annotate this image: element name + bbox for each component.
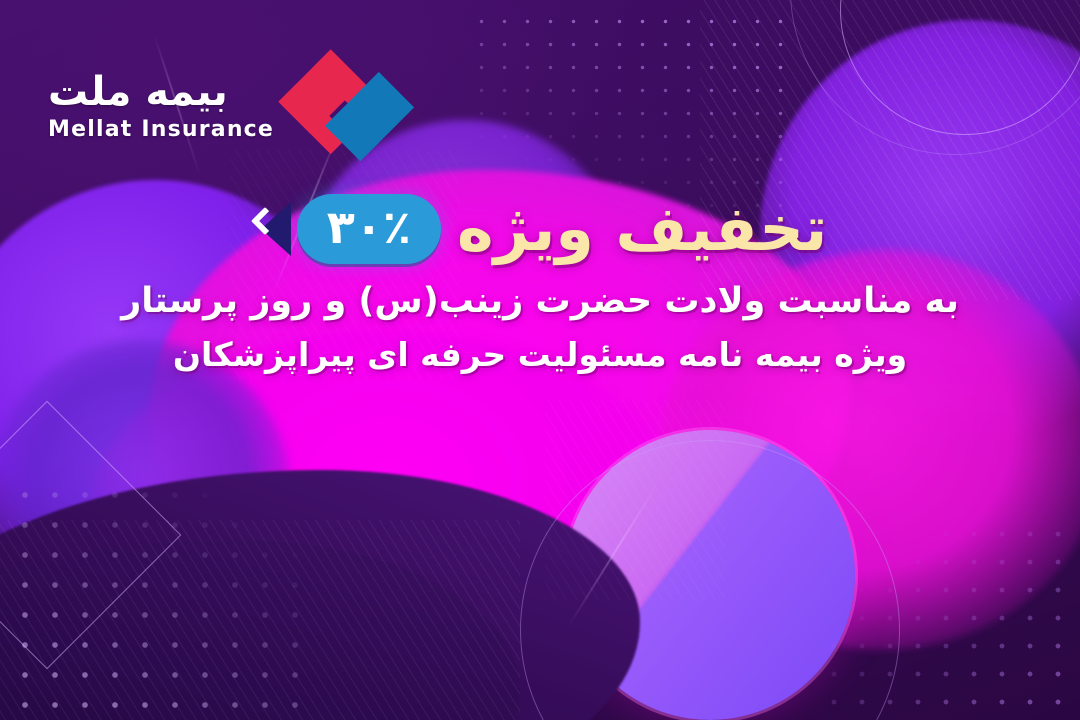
headline-text: تخفیف ویژه [457,192,827,265]
promo-banner: بیمه ملت Mellat Insurance تخفیف ویژه ۳۰٪… [0,0,1080,720]
brand-name-fa: بیمه ملت [48,72,228,112]
dot-pattern-bottom-right [820,520,1080,720]
brand-logo: بیمه ملت Mellat Insurance [48,52,396,160]
brand-wordmark: بیمه ملت Mellat Insurance [48,72,274,141]
promo-content: تخفیف ویژه ۳۰٪ به مناسبت ولادت حضرت زینب… [0,192,1080,374]
subheadline-occasion: به مناسبت ولادت حضرت زینب(س) و روز پرستا… [121,281,959,321]
brand-name-en: Mellat Insurance [48,119,274,141]
headline-row: تخفیف ویژه ۳۰٪ [253,192,828,265]
mellat-logo-mark-icon [266,30,419,183]
dot-pattern-top [470,10,800,220]
discount-badge: ۳۰٪ [297,194,441,264]
discount-badge-group: ۳۰٪ [253,194,441,264]
outline-circle-large [790,0,1080,155]
outline-circle-top-right [840,0,1080,135]
chevron-left-icon [253,198,297,260]
subheadline-policy: ویژه بیمه نامه مسئولیت حرفه ای پیراپزشکا… [173,335,907,374]
